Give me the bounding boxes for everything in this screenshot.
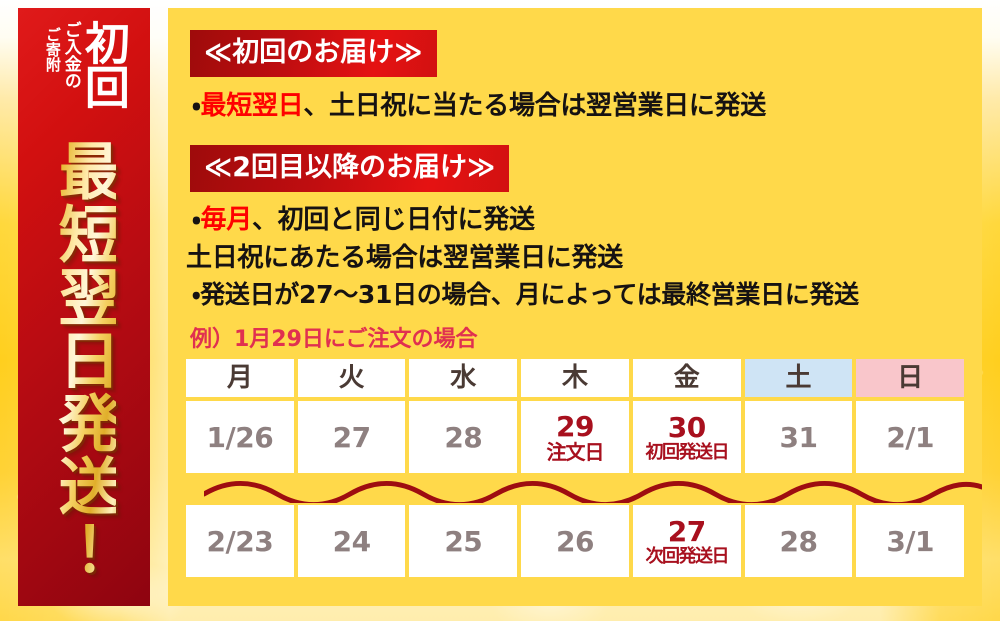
- bullet-marker: ・: [192, 280, 200, 309]
- left-vertical-banner: ご寄附 ご入金の 初回 最短翌日発送！: [18, 8, 150, 606]
- delivery-rule-line: ・最短翌日、土日祝に当たる場合は翌営業日に発送: [192, 90, 982, 123]
- weekday-label: 木: [562, 365, 588, 391]
- weekday-label: 土: [785, 365, 811, 391]
- calendar-day-cell: 28: [745, 505, 853, 577]
- calendar-day-cell: 2/1: [856, 401, 964, 473]
- calendar-day-cell: 25: [409, 505, 517, 577]
- line-rest-text: 、土日祝に当たる場合は翌営業日に発送: [303, 91, 766, 121]
- day-badge-label: 初回発送日: [645, 444, 728, 463]
- weekday-cell-mon: 月: [186, 359, 294, 397]
- day-number: 27: [668, 517, 706, 546]
- day-number: 24: [333, 527, 371, 556]
- weekday-cell-wed: 水: [409, 359, 517, 397]
- delivery-rule-line: 土日祝にあたる場合は翌営業日に発送: [186, 242, 982, 275]
- calendar-week-row-2: 2/23 24 25 26 27 次回発送日 28 3/1: [186, 505, 964, 577]
- subsequent-rules-block: ・毎月、初回と同じ日付に発送 土日祝にあたる場合は翌営業日に発送 ・発送日が27…: [168, 204, 982, 311]
- highlight-text: 毎月: [201, 205, 252, 235]
- banner-first-time-label: 初回: [81, 17, 125, 111]
- calendar-day-cell: 2/23: [186, 505, 294, 577]
- bullet-marker: ・: [192, 91, 201, 121]
- calendar-day-cell: 3/1: [856, 505, 964, 577]
- calendar-day-cell: 26: [521, 505, 629, 577]
- calendar-day-cell: 27: [298, 401, 406, 473]
- line-rest-text: 、初回と同じ日付に発送: [252, 205, 535, 235]
- weekday-label: 水: [450, 365, 476, 391]
- day-number: 1/26: [207, 423, 274, 452]
- day-number: 31: [779, 423, 817, 452]
- day-number: 28: [779, 527, 817, 556]
- day-number: 30: [668, 413, 706, 442]
- day-number: 27: [333, 423, 371, 452]
- day-number: 25: [444, 527, 482, 556]
- delivery-rule-line: ・発送日が27〜31日の場合、月によっては最終営業日に発送: [192, 279, 982, 311]
- calendar-day-cell: 24: [298, 505, 406, 577]
- banner-headline-vertical: 最短翌日発送！: [52, 114, 115, 604]
- highlight-text: 最短翌日: [201, 91, 304, 121]
- weekday-label: 日: [897, 365, 923, 391]
- day-number: 29: [556, 412, 594, 441]
- day-number: 2/23: [207, 527, 274, 556]
- banner-sub-label-2: ご寄附: [44, 17, 60, 89]
- calendar-week-row-1: 1/26 27 28 29 注文日 30 初回発送日 31 2/1: [186, 401, 964, 473]
- day-number: 26: [556, 527, 594, 556]
- weekday-cell-tue: 火: [298, 359, 406, 397]
- weekday-cell-sun: 日: [856, 359, 964, 397]
- delivery-rule-line: ・毎月、初回と同じ日付に発送: [192, 204, 982, 237]
- calendar: 月 火 水 木 金 土 日 1/26 27 28 29 注文日 30 初回発送日: [186, 359, 964, 577]
- line-rest-text: 発送日が27〜31日の場合、月によっては最終営業日に発送: [200, 280, 859, 309]
- day-badge-label: 次回発送日: [645, 548, 728, 567]
- calendar-day-cell-first-ship-date: 30 初回発送日: [633, 401, 741, 473]
- bullet-marker: ・: [192, 205, 201, 235]
- weekday-cell-sat: 土: [745, 359, 853, 397]
- calendar-day-cell-next-ship-date: 27 次回発送日: [633, 505, 741, 577]
- calendar-day-cell: 1/26: [186, 401, 294, 473]
- weekday-cell-thu: 木: [521, 359, 629, 397]
- weekday-label: 月: [227, 365, 253, 391]
- day-number: 2/1: [886, 423, 934, 452]
- day-number: 28: [444, 423, 482, 452]
- calendar-day-cell: 31: [745, 401, 853, 473]
- section-badge-subsequent-delivery: ≪2回目以降のお届け≫: [190, 145, 509, 192]
- calendar-day-cell-order-date: 29 注文日: [521, 401, 629, 473]
- wavy-divider-icon: [204, 477, 982, 503]
- weekday-label: 金: [674, 365, 700, 391]
- calendar-day-cell: 28: [409, 401, 517, 473]
- line-rest-text: 土日祝にあたる場合は翌営業日に発送: [186, 243, 623, 273]
- content-panel: ≪初回のお届け≫ ・最短翌日、土日祝に当たる場合は翌営業日に発送 ≪2回目以降の…: [168, 8, 982, 606]
- weekday-cell-fri: 金: [633, 359, 741, 397]
- day-number: 3/1: [886, 527, 934, 556]
- section-badge-first-delivery: ≪初回のお届け≫: [190, 30, 437, 77]
- calendar-weekday-row: 月 火 水 木 金 土 日: [186, 359, 964, 397]
- weekday-label: 火: [339, 365, 365, 391]
- banner-root: ご寄附 ご入金の 初回 最短翌日発送！ ≪初回のお届け≫ ・最短翌日、土日祝に当…: [0, 0, 1000, 621]
- banner-top-group: ご寄附 ご入金の 初回: [22, 14, 146, 112]
- day-badge-label: 注文日: [547, 442, 604, 463]
- example-note: 例）1月29日にご注文の場合: [190, 321, 982, 353]
